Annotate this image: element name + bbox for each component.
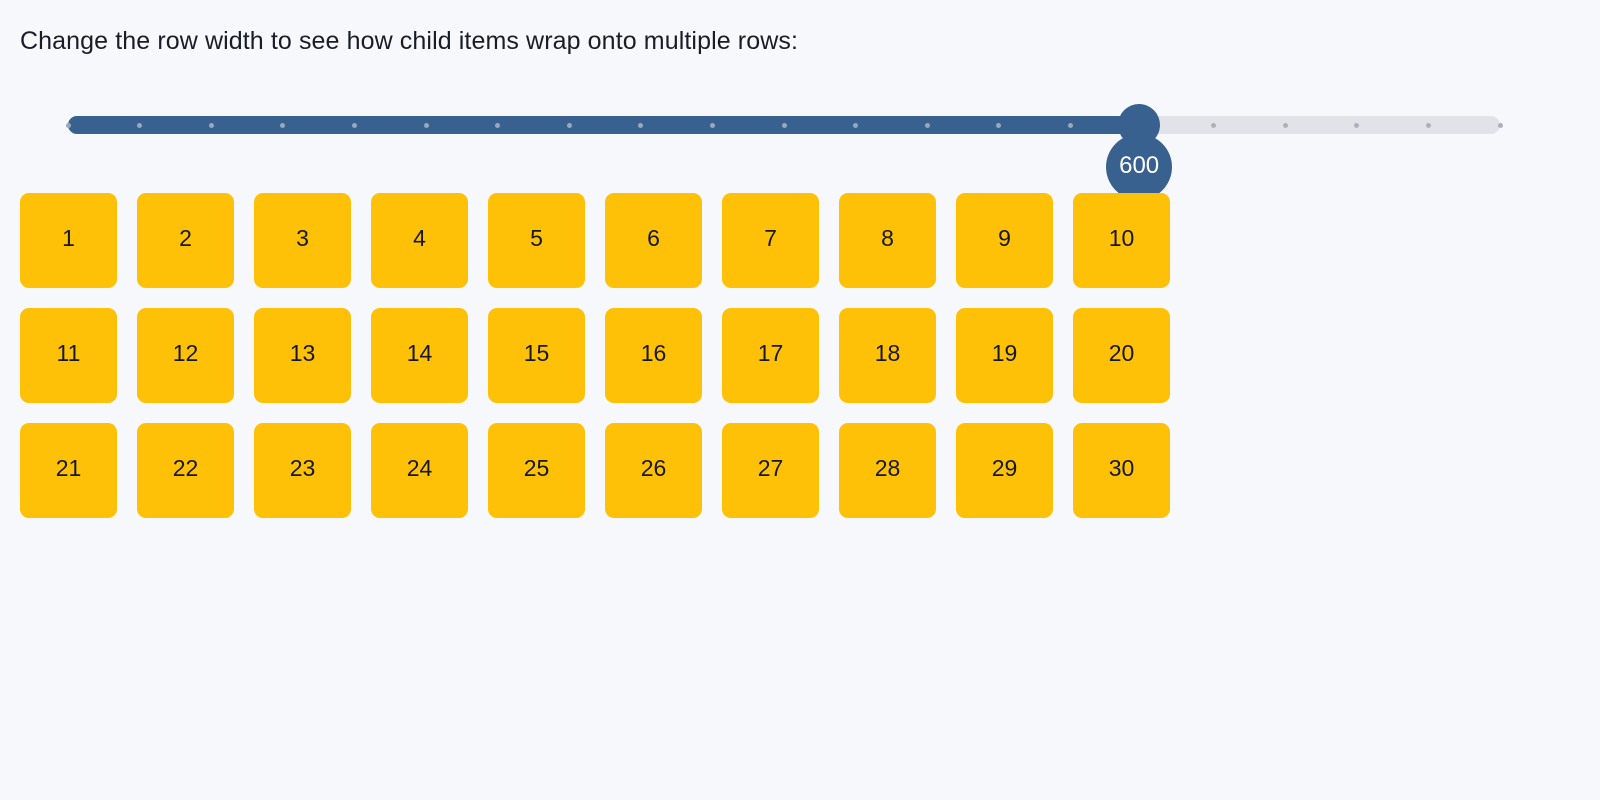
flex-item: 8	[839, 193, 936, 288]
slider-value-tooltip: 600	[1106, 134, 1172, 200]
demo-page: Change the row width to see how child it…	[0, 0, 1600, 800]
flex-item: 7	[722, 193, 819, 288]
flex-item: 6	[605, 193, 702, 288]
slider-tick	[925, 123, 930, 128]
slider-tick	[1283, 123, 1288, 128]
flex-item: 10	[1073, 193, 1170, 288]
flex-item: 14	[371, 308, 468, 403]
flex-item: 17	[722, 308, 819, 403]
slider-tick	[1426, 123, 1431, 128]
flex-item: 9	[956, 193, 1053, 288]
slider-tick	[352, 123, 357, 128]
flex-item: 26	[605, 423, 702, 518]
slider-tick	[782, 123, 787, 128]
slider-tick	[1068, 123, 1073, 128]
flex-item: 18	[839, 308, 936, 403]
slider-tick	[209, 123, 214, 128]
flex-item: 1	[20, 193, 117, 288]
slider-tick	[710, 123, 715, 128]
flex-item: 12	[137, 308, 234, 403]
slider-track-fill	[68, 116, 1139, 134]
flex-wrap-container: 1234567891011121314151617181920212223242…	[20, 193, 1180, 518]
flex-item: 22	[137, 423, 234, 518]
slider-tick	[424, 123, 429, 128]
flex-item: 30	[1073, 423, 1170, 518]
flex-item: 24	[371, 423, 468, 518]
flex-item: 4	[371, 193, 468, 288]
flex-item: 3	[254, 193, 351, 288]
flex-item: 23	[254, 423, 351, 518]
flex-item: 27	[722, 423, 819, 518]
flex-item: 19	[956, 308, 1053, 403]
flex-item: 5	[488, 193, 585, 288]
flex-item: 28	[839, 423, 936, 518]
flex-item: 11	[20, 308, 117, 403]
flex-item: 13	[254, 308, 351, 403]
page-title: Change the row width to see how child it…	[20, 24, 798, 58]
slider-tick	[567, 123, 572, 128]
flex-item: 20	[1073, 308, 1170, 403]
flex-item: 21	[20, 423, 117, 518]
row-width-slider[interactable]: 600	[68, 116, 1500, 134]
flex-item: 2	[137, 193, 234, 288]
flex-item: 16	[605, 308, 702, 403]
slider-tick	[66, 123, 71, 128]
slider-tick	[1498, 123, 1503, 128]
flex-item: 15	[488, 308, 585, 403]
flex-item: 25	[488, 423, 585, 518]
flex-item: 29	[956, 423, 1053, 518]
